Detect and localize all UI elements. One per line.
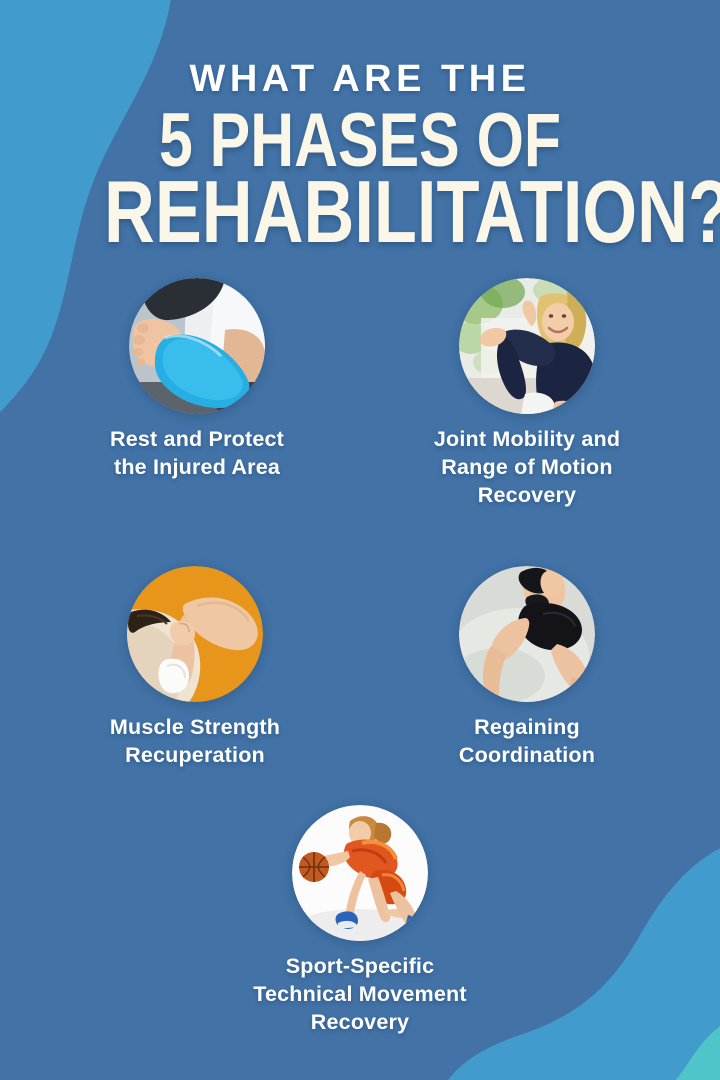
phase-2-caption: Joint Mobility and Range of Motion Recov… [377,426,677,510]
phase-grid: Rest and Protect the Injured Area [0,0,720,1080]
phase-1-caption: Rest and Protect the Injured Area [47,426,347,482]
phase-3-image-circle [127,566,263,702]
infographic-poster: WHAT ARE THE 5 PHASES OF REHABILITATION? [0,0,720,1080]
phase-4-caption-line-2: Coordination [377,742,677,770]
phase-item-3: Muscle Strength Recuperation [45,566,345,770]
phase-5-caption-line-2: Technical Movement [210,981,510,1009]
phase-4-caption: Regaining Coordination [377,714,677,770]
athlete-lunge-legs-photo [459,566,595,702]
phase-item-1: Rest and Protect the Injured Area [47,278,347,482]
phase-1-caption-line-1: Rest and Protect [47,426,347,454]
phase-5-caption: Sport-Specific Technical Movement Recove… [210,953,510,1037]
phase-2-image-circle [459,278,595,414]
phase-2-caption-line-2: Range of Motion [377,454,677,482]
phase-item-4: Regaining Coordination [377,566,677,770]
arm-flexing-on-orange-photo [127,566,263,702]
foot-in-blue-cast-photo [129,278,265,414]
phase-5-caption-line-1: Sport-Specific [210,953,510,981]
phase-2-caption-line-1: Joint Mobility and [377,426,677,454]
phase-item-2: Joint Mobility and Range of Motion Recov… [377,278,677,510]
phase-5-caption-line-3: Recovery [210,1009,510,1037]
phase-item-5: Sport-Specific Technical Movement Recove… [210,805,510,1037]
phase-5-image-circle [292,805,428,941]
phase-1-caption-line-2: the Injured Area [47,454,347,482]
phase-3-caption: Muscle Strength Recuperation [45,714,345,770]
phase-1-image-circle [129,278,265,414]
phase-3-caption-line-2: Recuperation [45,742,345,770]
phase-4-image-circle [459,566,595,702]
phase-3-caption-line-1: Muscle Strength [45,714,345,742]
phase-2-caption-line-3: Recovery [377,482,677,510]
woman-stretching-arms-photo [459,278,595,414]
girl-dribbling-basketball-photo [292,805,428,941]
phase-4-caption-line-1: Regaining [377,714,677,742]
